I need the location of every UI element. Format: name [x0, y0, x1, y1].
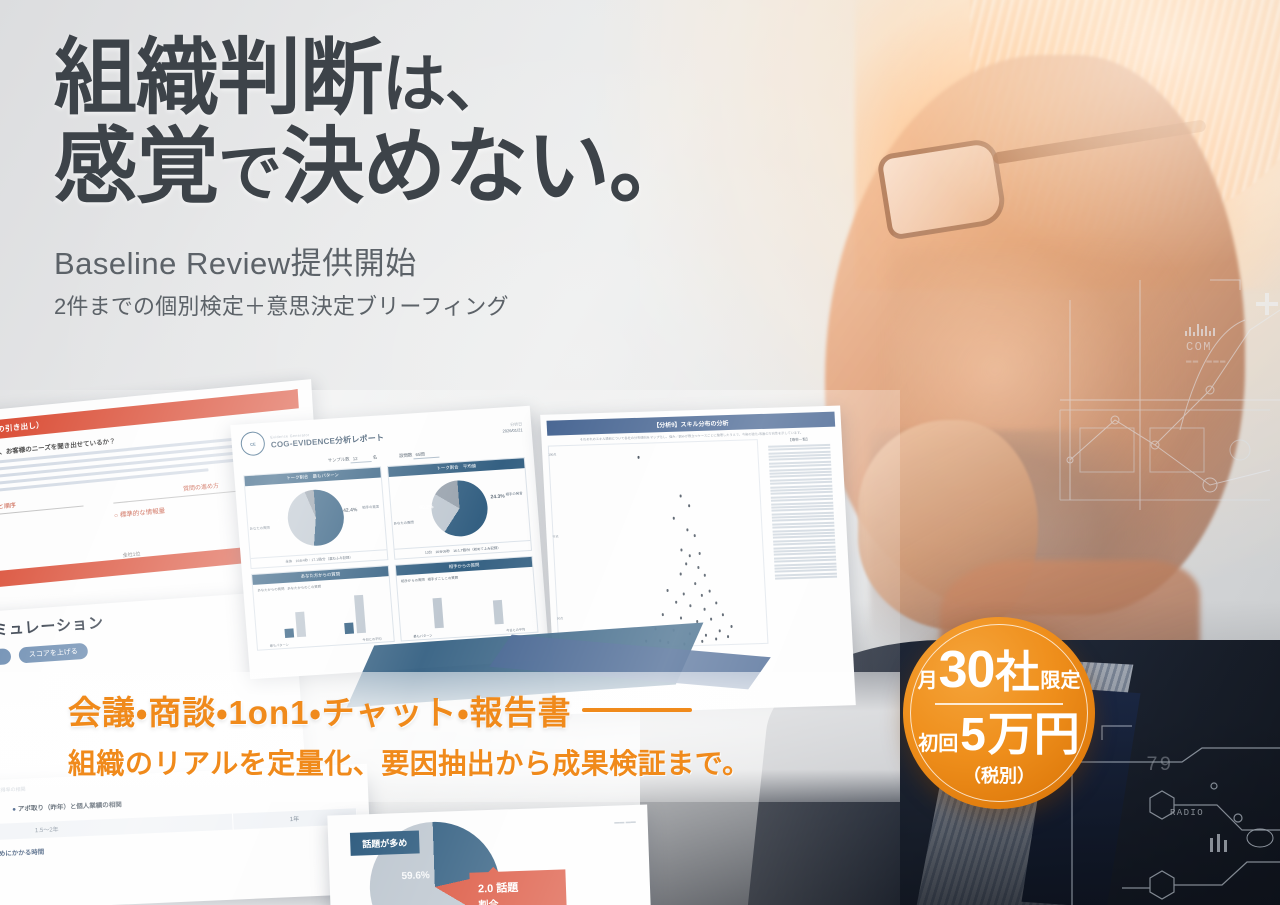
report-meta-2: 設問数 65問: [399, 451, 439, 460]
scatter-point: [685, 563, 688, 565]
topic-callout-number: 2.0: [478, 883, 494, 896]
skill-abbreviation-list: 【略称一覧】: [762, 437, 847, 644]
scatter-point: [705, 634, 708, 636]
headline-2-mid: で: [218, 137, 281, 209]
badge-prefix: 月: [918, 671, 938, 691]
report-bar-gray: [432, 598, 443, 628]
band-line-1-row: 会議・商談・1on1・チャット・報告書: [68, 686, 888, 734]
report-bars1-x2: 今日との平均: [362, 636, 381, 642]
offer-badge: 月 30 社 限定 初回 5 万円 （税別）: [903, 617, 1095, 809]
badge-row-price: 初回 5 万円: [918, 711, 1080, 757]
band-line-2: 組織のリアルを定量化、要因抽出から成果検証まで。: [68, 742, 888, 782]
scatter-point: [680, 573, 683, 575]
scatter-point: [694, 535, 697, 537]
headline-1-tail: は、: [382, 48, 508, 120]
hero-text-block: 組織判断は、 感覚で決めない。 Baseline Review提供開始 2件まで…: [54, 34, 814, 321]
report-meta1-label: サンプル数: [328, 456, 350, 462]
scatter-point: [637, 456, 640, 458]
report-bars1-x1: 最もパターン: [270, 642, 289, 648]
scatter-point: [689, 605, 692, 607]
report-pie-1-wrap: 52.3% 相手の発言 あなたの質問 42.4%: [245, 477, 386, 558]
report-pie-1: [286, 488, 346, 547]
scatter-point: [709, 590, 712, 592]
scatter-point: [722, 614, 725, 616]
band-line-1: 会議・商談・1on1・チャット・報告書: [68, 686, 572, 734]
scatter-point: [680, 549, 683, 551]
scatter-point: [694, 583, 697, 585]
report-bar-gray: [295, 612, 306, 638]
report-pie-row: トーク割合 最もパターン 52.3% 相手の発言 あなたの質問 42.4% 全体…: [243, 457, 532, 569]
badge-number: 30: [939, 644, 995, 696]
scatter-point: [666, 589, 669, 591]
orange-highlight-band: 会議・商談・1on1・チャット・報告書 組織のリアルを定量化、要因抽出から成果検…: [0, 672, 900, 802]
report-bar-gray: [492, 600, 503, 625]
topic-callout-label: 話題: [496, 882, 518, 895]
topic-pie-percent: 59.6%: [401, 870, 430, 882]
hero-subtitle: Baseline Review提供開始: [54, 238, 814, 283]
scatter-point: [730, 625, 733, 627]
topic-pie-tag: 話題が多め: [350, 830, 420, 855]
report-bars2-x2: 今日との平均: [506, 626, 525, 632]
skill-body: 100点 行点 50点: [548, 437, 847, 651]
scatter-point: [683, 593, 686, 595]
report-pie1-label-a: あなたの質問: [249, 525, 270, 531]
scatter-point: [701, 594, 704, 596]
report-bar-navy: [284, 628, 294, 638]
skill-scatter-plot: 100点 行点 50点: [548, 440, 769, 651]
scatter-point: [686, 529, 689, 531]
cog-evidence-logo-icon: CE: [240, 431, 266, 456]
report-bars2-x1: 最もパターン: [413, 632, 432, 638]
report-card-bar-1: あなた方からの質問 あなたからの質問 あなたからのこの質問: [251, 565, 395, 651]
scatter-point: [715, 602, 718, 604]
scatter-point: [689, 555, 692, 557]
hearing-col-1: 質問の効と順序 個・階層は十分にある: [0, 493, 85, 539]
scatter-point: [701, 640, 704, 642]
scatter-point: [697, 566, 700, 568]
headline-2-main: 感覚: [54, 120, 218, 213]
report-meta1-value: 12: [351, 455, 372, 463]
report-pie1-value-a: 52.3%: [274, 518, 289, 525]
report-bargroup-2b: [492, 600, 503, 625]
scatter-point: [662, 614, 665, 616]
report-bar-gray: [354, 595, 366, 633]
band-rule: [582, 708, 692, 712]
document-topic-pie-sheet: 59.6% 話題が多め 2.0 話題 割合 ▬▬ ▬▬: [327, 804, 652, 905]
report-bars-1: 最もパターン 今日との平均: [254, 585, 394, 650]
report-bargroup-1b: [342, 595, 366, 634]
badge-unit: 社: [995, 651, 1039, 695]
headline-2-tail: 。: [609, 120, 691, 213]
scatter-point: [704, 574, 707, 576]
topic-callout-sub: 割合: [478, 895, 558, 905]
badge-tax-note: （税別）: [963, 762, 1035, 788]
roi-pill-2: 組織レベル差あり: [0, 648, 11, 669]
skill-y-mid: 行点: [552, 535, 558, 539]
badge-row-limit: 月 30 社 限定: [918, 644, 1081, 696]
report-date-label: 分析日: [502, 421, 522, 428]
scatter-point: [675, 601, 678, 603]
badge-suffix: 限定: [1040, 671, 1080, 691]
report-bar-navy: [344, 623, 354, 635]
report-pie-2-wrap: 60.2% 相手の発言 あなたの質問 24.3%: [389, 468, 530, 549]
scatter-point: [704, 608, 707, 610]
scatter-point: [680, 495, 683, 497]
report-card-pie-2: トーク割合 平均値 60.2% 相手の発言 あなたの質問 24.3% 13分 1…: [387, 457, 532, 560]
scatter-point: [680, 617, 683, 619]
roi-pill-3: スコアを上げる: [18, 643, 88, 664]
band-inner: 会議・商談・1on1・チャット・報告書 組織のリアルを定量化、要因抽出から成果検…: [68, 686, 888, 782]
headline-1-main: 組織判断: [54, 31, 382, 124]
scatter-point: [688, 505, 691, 507]
report-pie-2: [429, 479, 489, 538]
report-bargroup-2a: [432, 598, 443, 628]
report-pie2-value-b: 24.3%: [490, 494, 505, 501]
scatter-point: [673, 517, 676, 519]
skill-y-low: 50点: [557, 617, 564, 621]
scatter-point: [699, 552, 702, 554]
topic-pie-side-note: ▬▬ ▬▬: [614, 819, 636, 826]
report-card-bar-2: 相手からの質問 相手からの質問 相手すこしこの質問 最もパターン: [395, 556, 539, 642]
report-pie2-value-a: 60.2%: [419, 504, 434, 511]
report-pie1-value-b: 42.4%: [343, 507, 358, 514]
report-bars-2: 最もパターン 今日との平均: [397, 576, 537, 641]
scatter-point: [727, 636, 730, 638]
report-date-block: 分析日 2026/01/21: [502, 421, 523, 433]
report-card-pie-1: トーク割合 最もパターン 52.3% 相手の発言 あなたの質問 42.4% 全体…: [243, 466, 388, 569]
report-meta-1: サンプル数 12 名: [328, 455, 378, 464]
scatter-point: [719, 630, 722, 632]
badge-divider: [935, 703, 1063, 704]
scatter-point: [715, 638, 718, 640]
headline-line-1: 組織判断は、: [54, 34, 814, 123]
documents-collage: ：HEARING（ニーズ・課題感の引き出し） 【CHECK2】視点を提示しながら…: [0, 390, 900, 905]
page-title: 組織判断は、 感覚で決めない。: [54, 34, 814, 212]
headline-line-2: 感覚で決めない。: [54, 123, 814, 212]
headline-2-main2: 決めない: [281, 120, 609, 213]
badge-price-prefix: 初回: [918, 734, 958, 754]
report-pie1-label-b: 相手の発言: [362, 504, 379, 510]
skill-y-top: 100点: [548, 453, 556, 457]
topic-pie-callout: 2.0 話題 割合: [469, 869, 567, 905]
badge-price-number: 5: [960, 711, 986, 757]
hero-subtitle-secondary: 2件までの個別検定＋意思決定ブリーフィング: [54, 289, 814, 321]
hero-banner: COM ▬▬ ▬▬▬: [0, 0, 1280, 905]
badge-price-unit: 万円: [988, 711, 1080, 757]
report-pie2-label-b: 相手の発言: [505, 490, 522, 496]
scatter-point: [710, 618, 713, 620]
report-title-block: Evidence Generator COG-EVIDENCE分析レポート: [270, 428, 384, 450]
report-pie2-label-a: あなたの質問: [393, 519, 414, 525]
report-bargroup-1a: [283, 612, 306, 638]
report-meta2-value: 65問: [413, 451, 439, 460]
report-meta2-label: 設問数: [399, 452, 413, 458]
report-meta1-unit: 名: [373, 455, 378, 460]
